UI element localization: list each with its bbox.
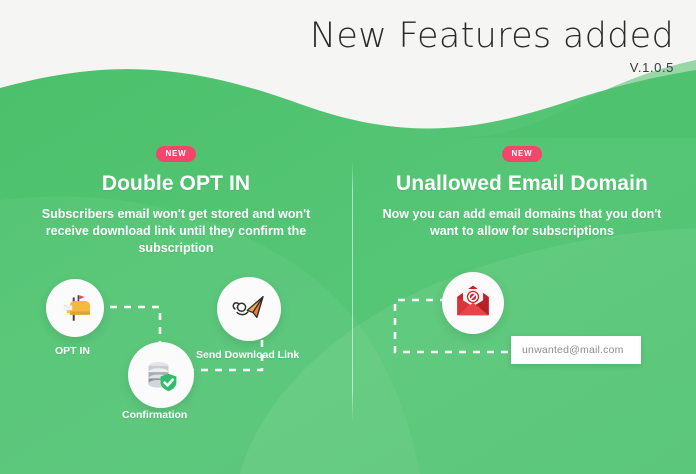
email-domain-input-value: unwanted@mail.com xyxy=(511,344,624,356)
blocked-email-icon xyxy=(452,282,494,324)
node-blocked-email xyxy=(442,272,504,334)
feature-announcement-slide: New Features added V.1.0.5 NEW Double OP… xyxy=(0,0,696,474)
blocked-email-icon-circle xyxy=(442,272,504,334)
right-flow-connectors xyxy=(0,0,696,474)
email-domain-input[interactable]: unwanted@mail.com xyxy=(511,336,641,364)
